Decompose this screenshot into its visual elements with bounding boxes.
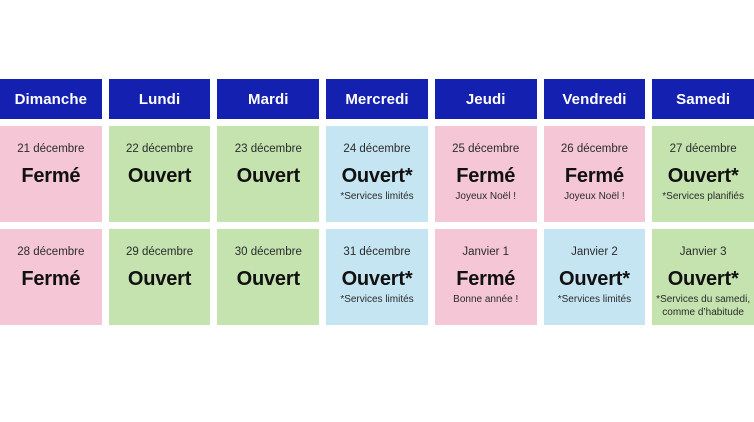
day-status: Fermé <box>456 268 515 291</box>
day-header-label: Lundi <box>139 91 180 108</box>
day-header-label: Mardi <box>248 91 289 108</box>
day-date: 27 décembre <box>670 142 737 156</box>
day-note: *Services limités <box>337 294 416 307</box>
day-cell: Janvier 2 Ouvert* *Services limités <box>544 229 646 325</box>
day-note: *Services planifiés <box>659 191 747 204</box>
day-status: Ouvert <box>237 165 300 188</box>
day-header-dimanche: Dimanche <box>0 79 102 119</box>
day-cell: 31 décembre Ouvert* *Services limités <box>326 229 428 325</box>
day-status: Ouvert <box>237 268 300 291</box>
day-date: Janvier 2 <box>571 245 618 259</box>
day-cell: Janvier 3 Ouvert* *Services du samedi, c… <box>652 229 754 325</box>
day-status: Ouvert* <box>559 268 630 291</box>
day-header-mercredi: Mercredi <box>326 79 428 119</box>
day-cell: 26 décembre Fermé Joyeux Noël ! <box>544 126 646 222</box>
day-header-vendredi: Vendredi <box>544 79 646 119</box>
day-status: Fermé <box>565 165 624 188</box>
day-note: *Services limités <box>337 191 416 204</box>
day-date: 30 décembre <box>235 245 302 259</box>
day-header-label: Samedi <box>676 91 730 108</box>
day-header-label: Jeudi <box>466 91 506 108</box>
day-cell: 28 décembre Fermé <box>0 229 102 325</box>
day-note: Joyeux Noël ! <box>452 191 519 204</box>
day-date: 21 décembre <box>17 142 84 156</box>
day-header-mardi: Mardi <box>217 79 319 119</box>
day-note: *Services du samedi, comme d’habitude <box>652 294 754 319</box>
day-date: Janvier 1 <box>462 245 509 259</box>
calendar-header-row: Dimanche Lundi Mardi Mercredi Jeudi Vend… <box>0 79 754 119</box>
day-cell: 27 décembre Ouvert* *Services planifiés <box>652 126 754 222</box>
day-date: 26 décembre <box>561 142 628 156</box>
day-note: *Services limités <box>555 294 634 307</box>
day-date: 25 décembre <box>452 142 519 156</box>
day-note: Joyeux Noël ! <box>561 191 628 204</box>
day-date: 23 décembre <box>235 142 302 156</box>
holiday-hours-calendar: Dimanche Lundi Mardi Mercredi Jeudi Vend… <box>0 79 754 325</box>
day-date: 22 décembre <box>126 142 193 156</box>
day-header-jeudi: Jeudi <box>435 79 537 119</box>
day-header-samedi: Samedi <box>652 79 754 119</box>
calendar-week-row: 28 décembre Fermé 29 décembre Ouvert 30 … <box>0 229 754 325</box>
day-status: Ouvert* <box>668 165 739 188</box>
day-cell: 21 décembre Fermé <box>0 126 102 222</box>
day-header-label: Dimanche <box>15 91 88 108</box>
day-cell: 22 décembre Ouvert <box>109 126 211 222</box>
day-date: 28 décembre <box>17 245 84 259</box>
day-header-label: Mercredi <box>345 91 408 108</box>
day-header-label: Vendredi <box>562 91 626 108</box>
day-date: 24 décembre <box>343 142 410 156</box>
day-status: Fermé <box>456 165 515 188</box>
day-cell: Janvier 1 Fermé Bonne année ! <box>435 229 537 325</box>
day-date: Janvier 3 <box>680 245 727 259</box>
day-status: Ouvert <box>128 165 191 188</box>
day-note: Bonne année ! <box>450 294 521 307</box>
day-cell: 30 décembre Ouvert <box>217 229 319 325</box>
day-date: 31 décembre <box>343 245 410 259</box>
day-cell: 29 décembre Ouvert <box>109 229 211 325</box>
day-status: Ouvert <box>128 268 191 291</box>
day-cell: 23 décembre Ouvert <box>217 126 319 222</box>
calendar-week-row: 21 décembre Fermé 22 décembre Ouvert 23 … <box>0 126 754 222</box>
day-status: Ouvert* <box>342 165 413 188</box>
day-header-lundi: Lundi <box>109 79 211 119</box>
day-cell: 25 décembre Fermé Joyeux Noël ! <box>435 126 537 222</box>
day-status: Ouvert* <box>342 268 413 291</box>
day-status: Fermé <box>21 165 80 188</box>
day-cell: 24 décembre Ouvert* *Services limités <box>326 126 428 222</box>
day-status: Ouvert* <box>668 268 739 291</box>
day-status: Fermé <box>21 268 80 291</box>
day-date: 29 décembre <box>126 245 193 259</box>
